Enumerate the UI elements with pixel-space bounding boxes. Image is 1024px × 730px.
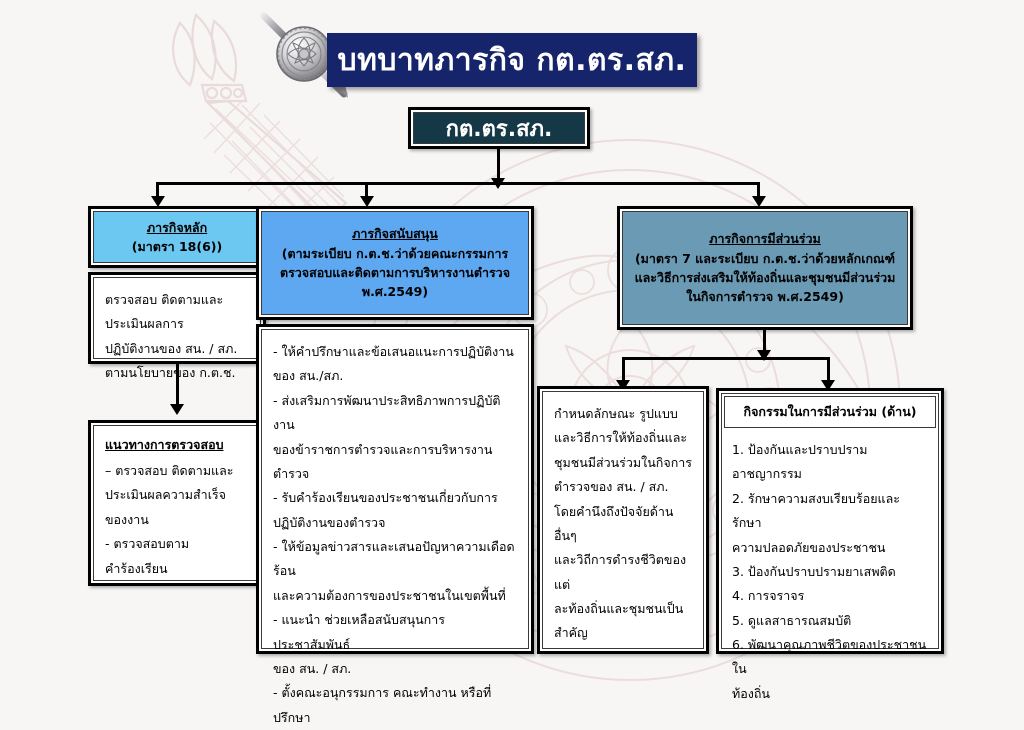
diagram-canvas: บทบาทภารกิจ กต.ตร.สภ. กต.ตร.สภ. ภารกิจหล…	[0, 0, 1024, 724]
body-main-mission: ตรวจสอบ ติดตามและ ประเมินผลการ ปฏิบัติงา…	[88, 272, 266, 364]
header-main-title: ภารกิจหลัก	[147, 220, 207, 235]
list-item: 3. ป้องกันปราบปรามยาเสพติด	[732, 560, 928, 584]
header-support-line3: ตรวจสอบและติดตามการบริหารงานตำรวจ	[280, 265, 510, 280]
guideline-heading: แนวทางการตรวจสอบ	[105, 435, 224, 455]
list-item: 4. การจราจร	[732, 584, 928, 608]
body-support-mission: - ให้คำปรึกษาและข้อเสนอแนะการปฏิบัติงาน …	[256, 324, 534, 654]
list-item: 1. ป้องกันและปราบปรามอาชญากรรม	[732, 438, 928, 487]
root-node-kt-tr-sp: กต.ตร.สภ.	[408, 107, 590, 149]
header-main-subtitle: (มาตรา 18(6))	[132, 239, 222, 254]
list-item: 2. รักษาความสงบเรียบร้อยและรักษา ความปลอ…	[732, 487, 928, 560]
local-participation-text: กำหนดลักษณะ รูปแบบ และวิธีการให้ท้องถิ่น…	[554, 402, 692, 646]
box-participation-activities: กิจกรรมในการมีส่วนร่วม (ด้าน) 1. ป้องกัน…	[716, 388, 944, 654]
header-participation-mission: ภารกิจการมีส่วนร่วม (มาตรา 7 และระเบียบ …	[617, 206, 913, 330]
header-support-title: ภารกิจสนับสนุน	[352, 226, 438, 241]
list-item: 5. ดูแลสาธารณสมบัติ	[732, 609, 928, 633]
page-title-banner: บทบาทภารกิจ กต.ตร.สภ.	[327, 33, 697, 87]
header-participation-title: ภารกิจการมีส่วนร่วม	[709, 231, 821, 246]
activities-list: 1. ป้องกันและปราบปรามอาชญากรรม 2. รักษาค…	[722, 430, 938, 714]
header-main-mission: ภารกิจหลัก (มาตรา 18(6))	[88, 206, 266, 268]
box-inspection-guideline: แนวทางการตรวจสอบ – ตรวจสอบ ติดตามและ ประ…	[88, 420, 266, 586]
header-participation-line2: (มาตรา 7 และระเบียบ ก.ต.ช.ว่าด้วยหลักเกณ…	[635, 251, 895, 266]
header-support-line2: (ตามระเบียบ ก.ต.ช.ว่าด้วยคณะกรรมการ	[282, 246, 508, 261]
body-main-text: ตรวจสอบ ติดตามและ ประเมินผลการ ปฏิบัติงา…	[105, 288, 237, 386]
header-participation-line4: ในกิจการตำรวจ พ.ศ.2549)	[686, 289, 844, 304]
root-node-label: กต.ตร.สภ.	[446, 111, 553, 146]
list-item: 6. พัฒนาคุณภาพชีวิตของประชาชนใน ท้องถิ่น	[732, 633, 928, 706]
header-support-mission: ภารกิจสนับสนุน (ตามระเบียบ ก.ต.ช.ว่าด้วย…	[256, 206, 534, 320]
header-participation-line3: และวิธีการส่งเสริมให้ท้องถิ่นและชุมชนมีส…	[635, 270, 896, 285]
connector-participation-bus	[622, 357, 830, 360]
activities-heading: กิจกรรมในการมีส่วนร่วม (ด้าน)	[724, 396, 936, 428]
arrow-down-guideline	[170, 404, 184, 415]
connector-main-to-guideline	[176, 364, 179, 406]
guideline-text: – ตรวจสอบ ติดตามและ ประเมินผลความสำเร็จ …	[105, 459, 234, 581]
body-support-text: - ให้คำปรึกษาและข้อเสนอแนะการปฏิบัติงาน …	[273, 340, 517, 730]
box-local-community-participation: กำหนดลักษณะ รูปแบบ และวิธีการให้ท้องถิ่น…	[537, 386, 709, 654]
connector-root-bus-span	[156, 182, 760, 185]
header-support-line4: พ.ศ.2549)	[362, 284, 428, 299]
page-title: บทบาทภารกิจ กต.ตร.สภ.	[338, 37, 687, 84]
